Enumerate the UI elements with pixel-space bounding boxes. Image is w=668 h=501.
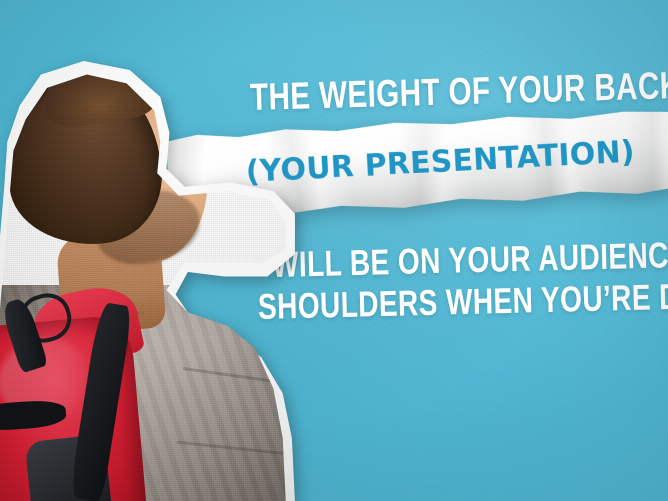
nose	[177, 138, 225, 190]
presentation-slide: THE WEIGHT OF YOUR BACKPACK (YOUR PRESEN…	[0, 0, 668, 501]
cutout-photo-man-with-backpack	[0, 52, 298, 501]
